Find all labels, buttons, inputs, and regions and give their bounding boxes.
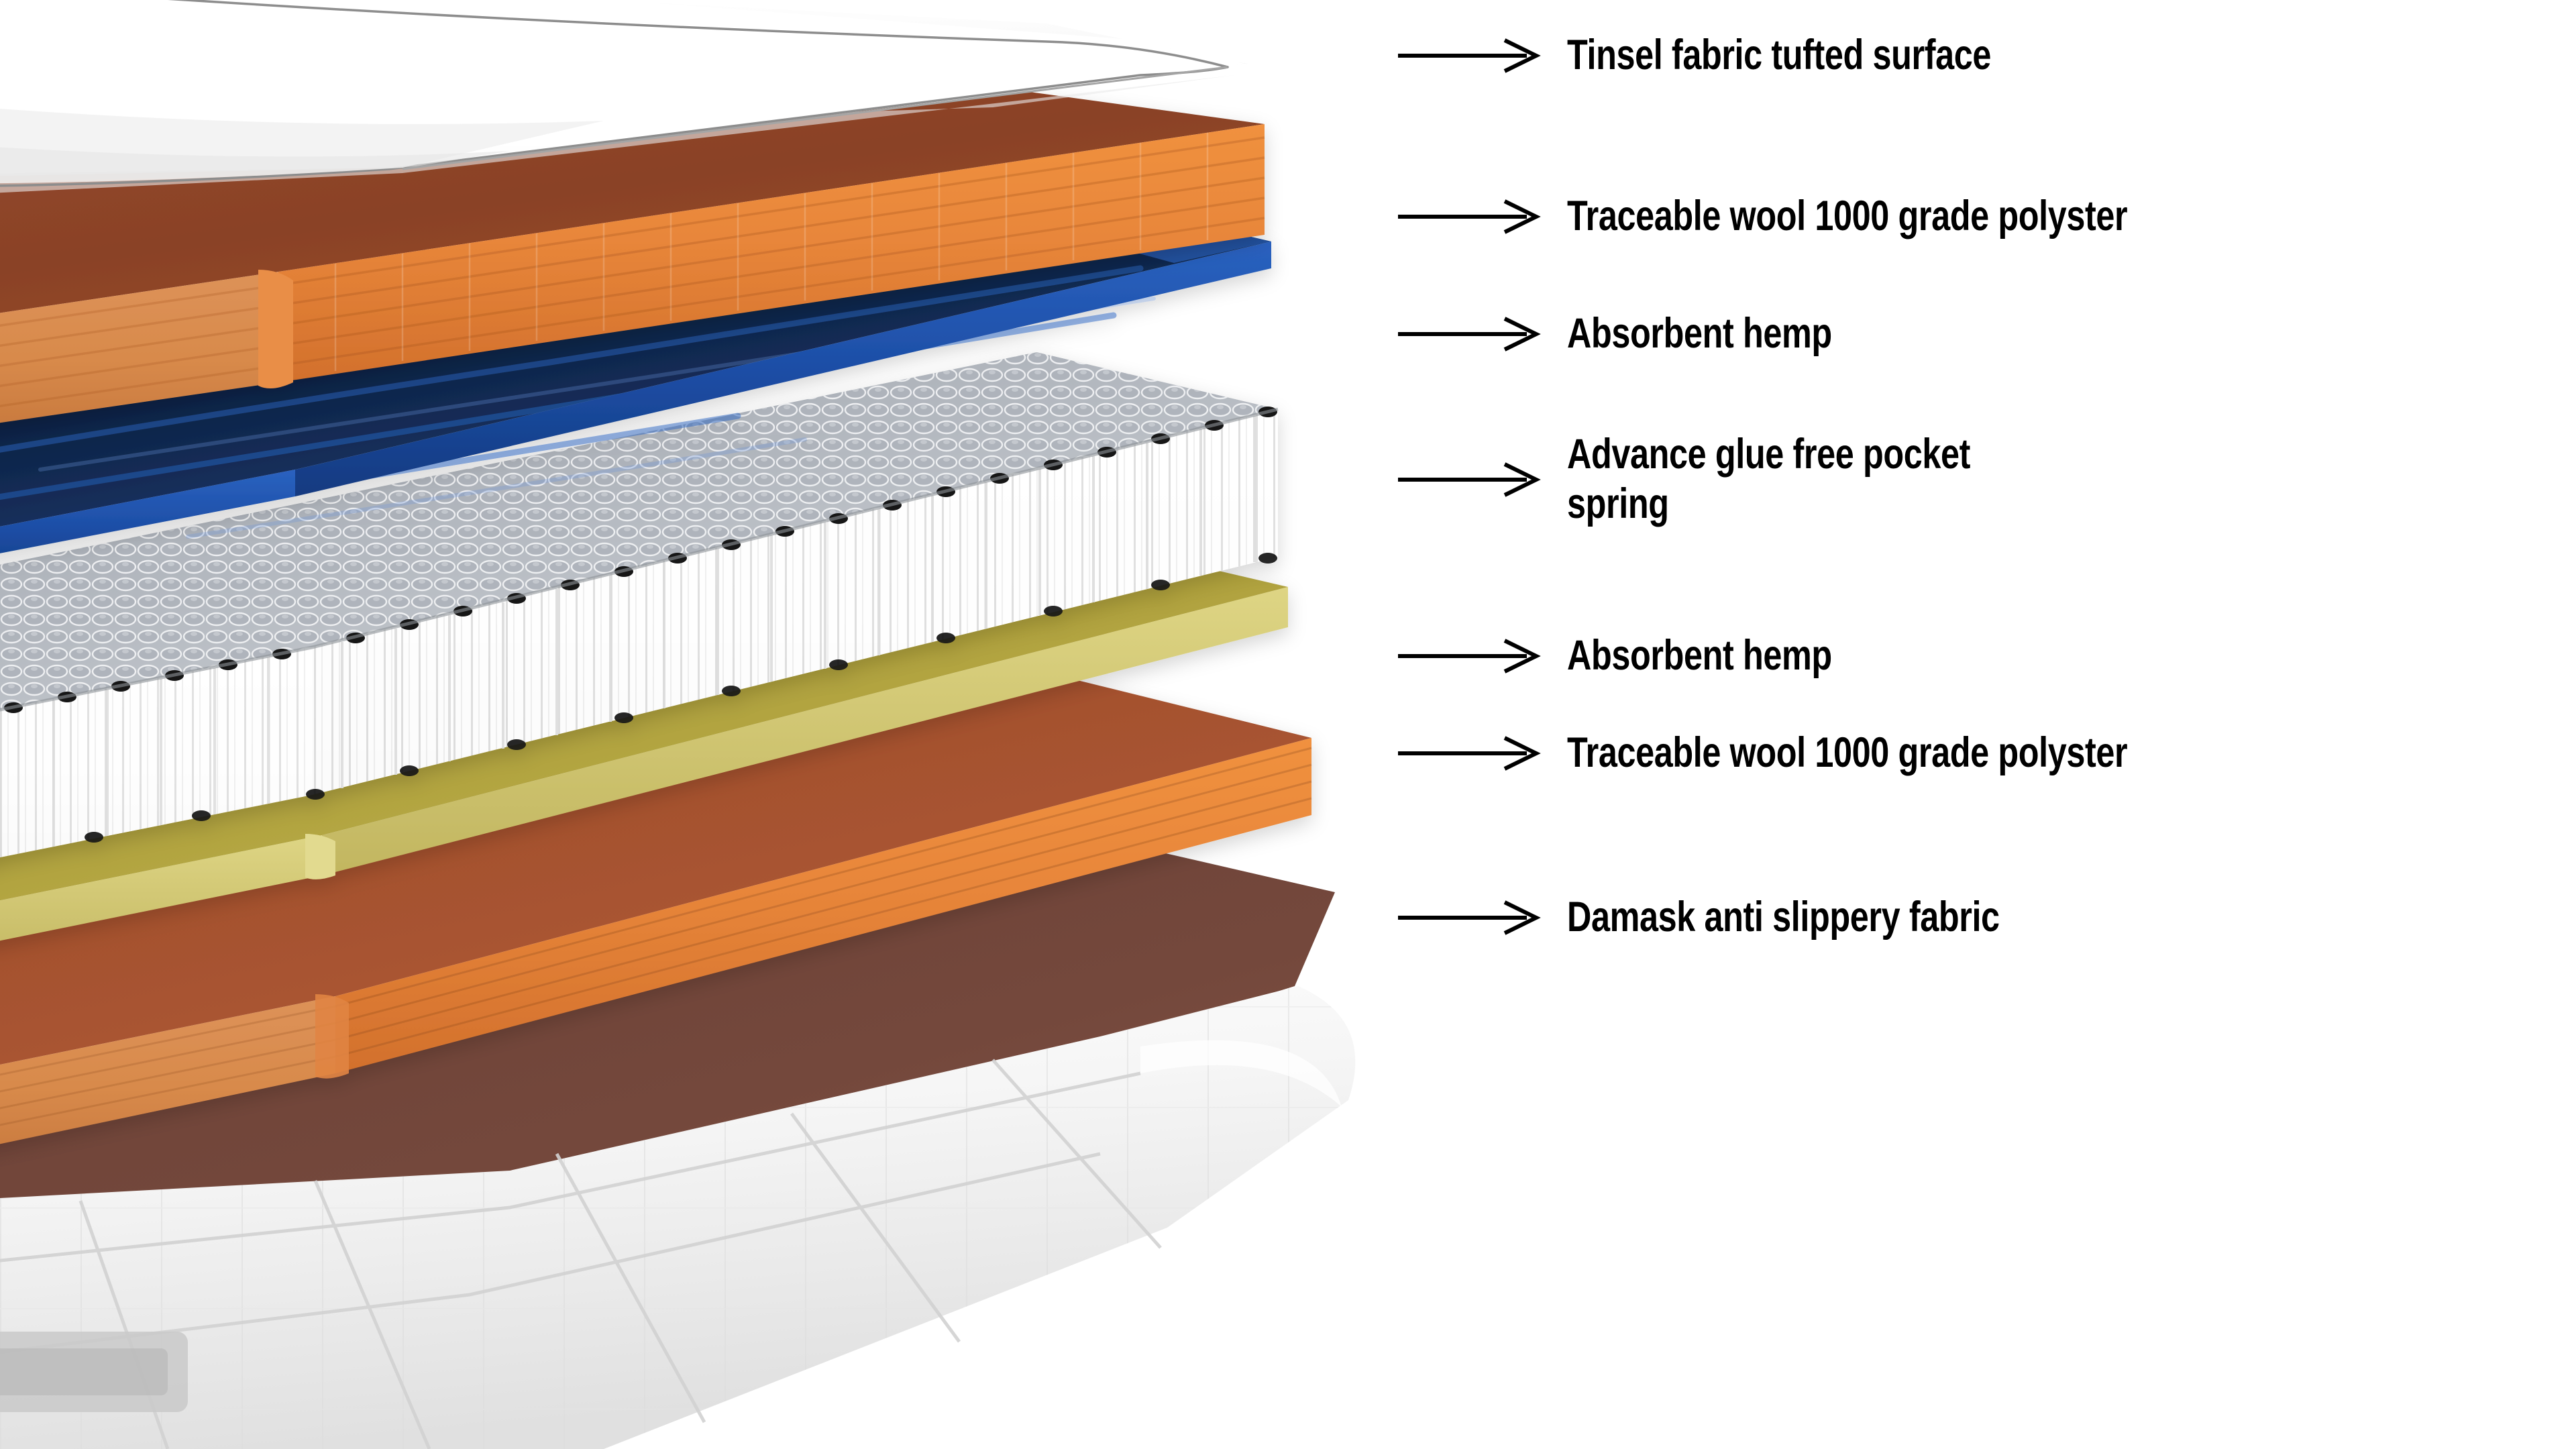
callout-label-pocket-spring: Advance glue free pocket spring	[1567, 429, 1970, 529]
right-arrow-icon	[1395, 196, 1550, 236]
right-arrow-icon	[1395, 635, 1550, 676]
callout-label-hemp-top: Absorbent hemp	[1567, 309, 1832, 358]
callout-damask-base: Damask anti slippery fabric	[1395, 892, 2108, 942]
callout-label-hemp-bottom: Absorbent hemp	[1567, 631, 1832, 680]
callout-wool-polyster-bottom: Traceable wool 1000 grade polyster	[1395, 728, 2267, 777]
callout-label-wool-polyster-top: Traceable wool 1000 grade polyster	[1567, 191, 2127, 241]
callout-list: Tinsel fabric tufted surface Traceable w…	[1395, 0, 2576, 1449]
callout-tinsel-fabric: Tinsel fabric tufted surface	[1395, 30, 2097, 80]
right-arrow-icon	[1395, 897, 1550, 937]
diagram-stage: Tinsel fabric tufted surface Traceable w…	[0, 0, 2576, 1449]
callout-label-tinsel-fabric: Tinsel fabric tufted surface	[1567, 30, 1991, 80]
callout-label-wool-polyster-bottom: Traceable wool 1000 grade polyster	[1567, 728, 2127, 777]
callout-pocket-spring: Advance glue free pocket spring	[1395, 429, 2071, 529]
callout-label-damask-base: Damask anti slippery fabric	[1567, 892, 2000, 942]
callout-wool-polyster-top: Traceable wool 1000 grade polyster	[1395, 191, 2267, 241]
mattress-exploded-artwork	[0, 0, 1422, 1449]
right-arrow-icon	[1395, 35, 1550, 75]
right-arrow-icon	[1395, 733, 1550, 773]
right-arrow-icon	[1395, 313, 1550, 354]
right-arrow-icon	[1395, 459, 1550, 499]
callout-hemp-top: Absorbent hemp	[1395, 309, 1898, 358]
callout-hemp-bottom: Absorbent hemp	[1395, 631, 1898, 680]
